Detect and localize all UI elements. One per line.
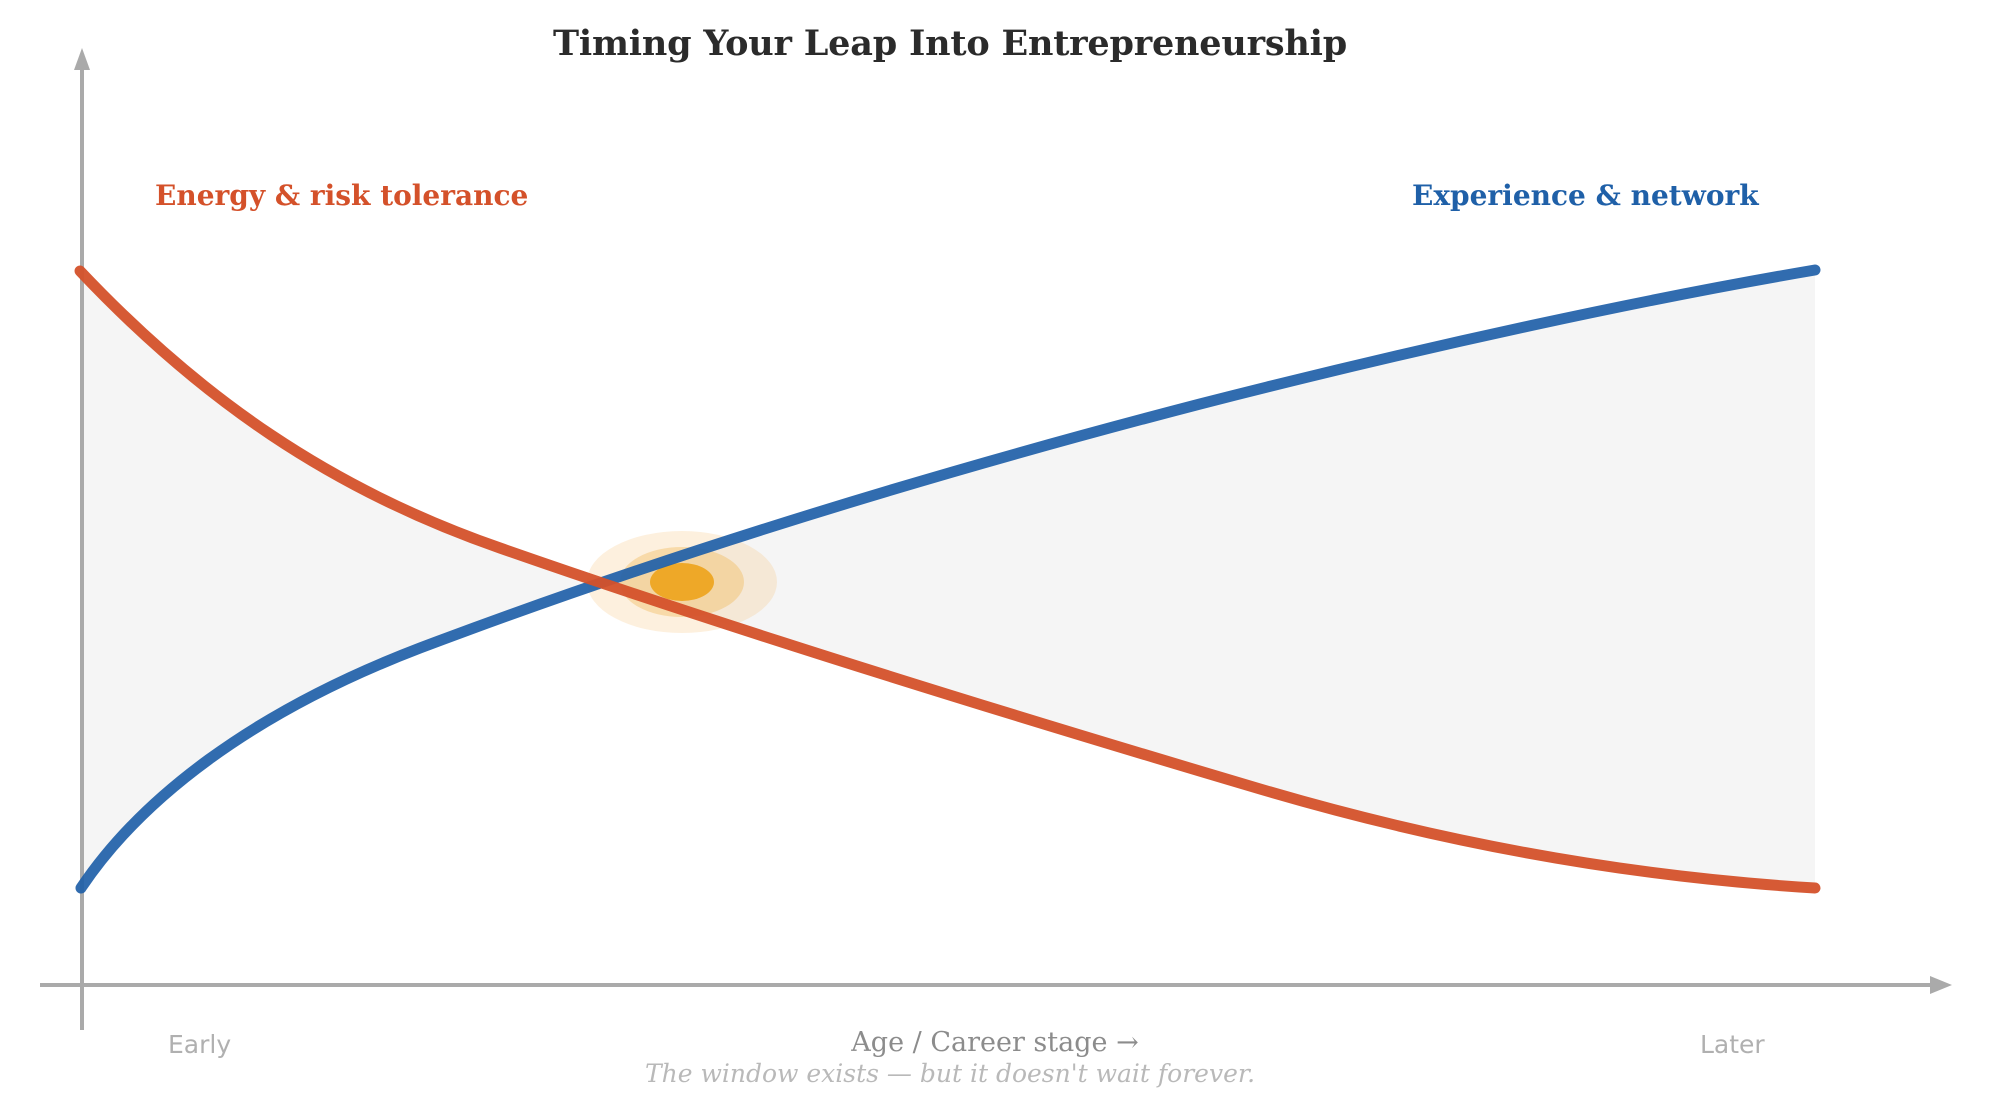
x-axis [40, 976, 1952, 994]
x-axis-arrow-icon [1930, 976, 1952, 994]
chart-plot-area [0, 0, 2000, 1095]
chart-footnote: The window exists — but it doesn't wait … [0, 1059, 1900, 1088]
series-label-energy: Energy & risk tolerance [155, 179, 528, 212]
chart-canvas: Timing Your Leap Into Entrepreneurship E… [0, 0, 2000, 1095]
fill-between-curves [80, 270, 1815, 888]
chart-title: Timing Your Leap Into Entrepreneurship [0, 23, 1900, 64]
series-label-experience: Experience & network [1412, 179, 1759, 212]
x-axis-caption: Age / Career stage → [0, 1027, 1990, 1058]
